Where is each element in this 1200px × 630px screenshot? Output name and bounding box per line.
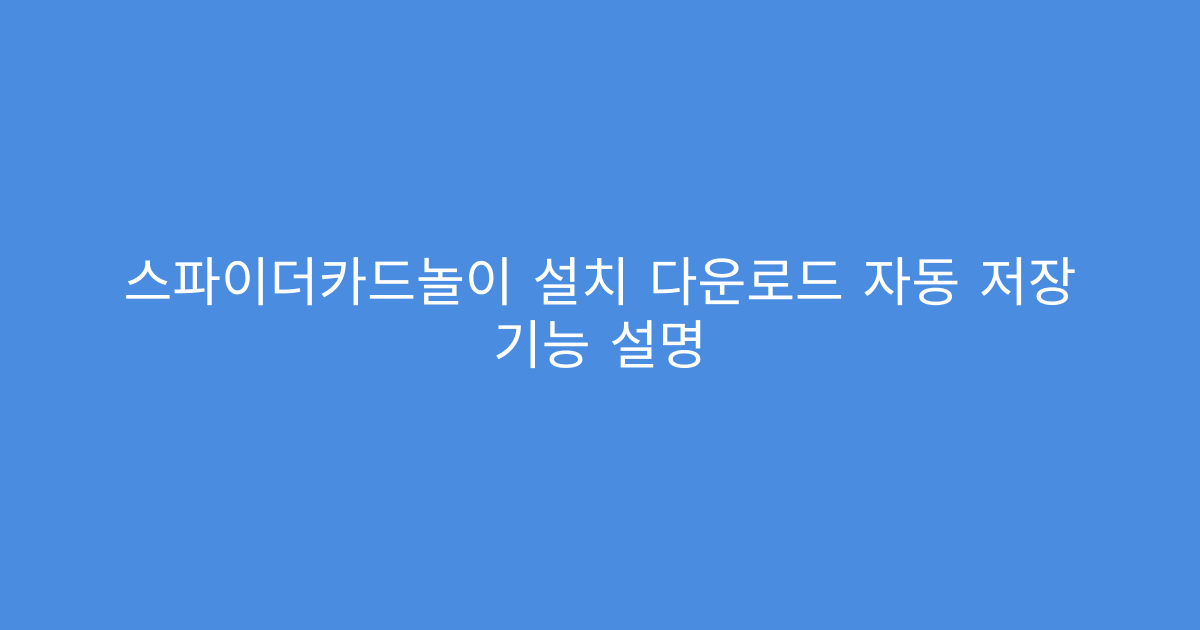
share-card: 스파이더카드놀이 설치 다운로드 자동 저장 기능 설명 bbox=[0, 0, 1200, 630]
page-title: 스파이더카드놀이 설치 다운로드 자동 저장 기능 설명 bbox=[80, 252, 1120, 378]
title-block: 스파이더카드놀이 설치 다운로드 자동 저장 기능 설명 bbox=[70, 252, 1130, 378]
